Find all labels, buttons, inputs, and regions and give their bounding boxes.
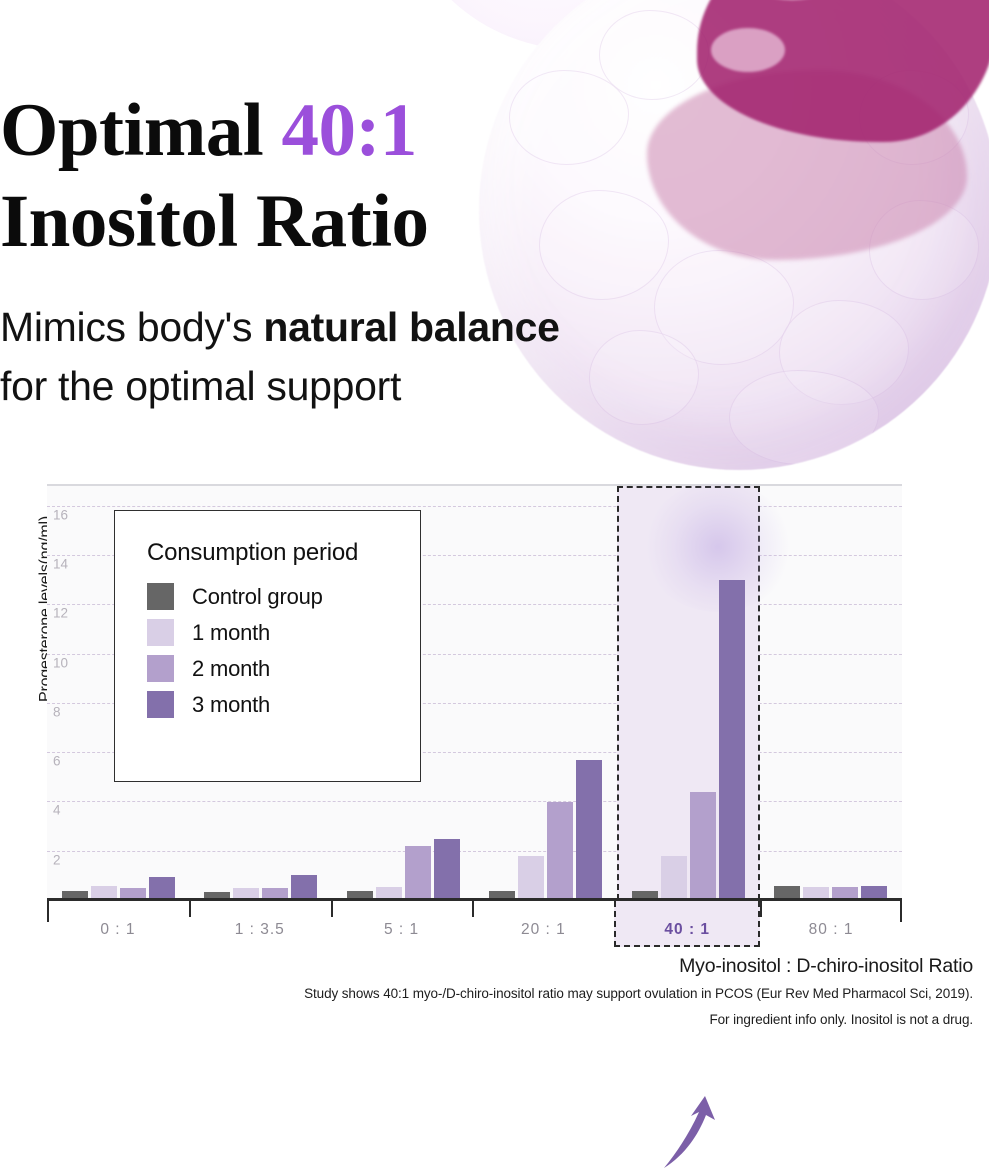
study-note: Study shows 40:1 myo-/D-chiro-inositol r…	[0, 986, 973, 1001]
bar-group	[760, 486, 903, 898]
bar	[376, 887, 402, 898]
legend-item-label: Control group	[192, 584, 323, 610]
progesterone-bar-chart: Progesterone levels(ng/ml) 246810121416 …	[0, 470, 989, 1024]
subhead-line2: for the optimal support	[0, 363, 401, 409]
bar	[347, 891, 373, 898]
bar	[576, 760, 602, 898]
bar	[91, 886, 117, 898]
bar	[547, 802, 573, 898]
legend-item-label: 3 month	[192, 692, 270, 718]
bar	[489, 891, 515, 898]
x-axis-caption: Myo-inositol : D-chiro-inositol Ratio	[0, 955, 973, 978]
page-title: Optimal 40:1 Inositol Ratio	[0, 86, 560, 268]
bar	[661, 856, 687, 898]
bubble-top-shape	[399, 0, 759, 50]
legend-swatch	[147, 691, 174, 718]
x-axis-tick-4: 40 : 1	[614, 901, 760, 947]
growth-arrow-icon	[661, 1094, 719, 1172]
bar-group	[617, 486, 760, 898]
bar	[719, 580, 745, 898]
legend-items: Control group1 month2 month3 month	[147, 583, 420, 718]
headline-line1-prefix: Optimal	[0, 89, 281, 172]
x-axis-tick-0: 0 : 1	[47, 901, 189, 947]
headline-ratio-accent: 40:1	[281, 89, 416, 172]
x-axis-tick-5: 80 : 1	[760, 901, 902, 947]
legend-swatch	[147, 619, 174, 646]
bar	[518, 856, 544, 898]
headline-line2: Inositol Ratio	[0, 180, 428, 263]
bar	[832, 887, 858, 898]
bar	[434, 839, 460, 898]
legend-item-label: 2 month	[192, 656, 270, 682]
legend-title: Consumption period	[147, 539, 420, 567]
legend-swatch	[147, 583, 174, 610]
x-axis-tick-3: 20 : 1	[472, 901, 614, 947]
bar	[149, 877, 175, 898]
bar	[774, 886, 800, 898]
bar	[690, 792, 716, 898]
disclaimer-note: For ingredient info only. Inositol is no…	[0, 1012, 973, 1027]
legend-item: Control group	[147, 583, 420, 610]
bubble-pink-blob	[647, 70, 967, 260]
bar	[291, 875, 317, 898]
hero-copy: Optimal 40:1 Inositol Ratio Mimics body'…	[0, 86, 560, 416]
bar	[233, 888, 259, 898]
subhead-part1: Mimics body's	[0, 304, 263, 350]
x-axis-tick-1: 1 : 3.5	[189, 901, 331, 947]
chart-legend: Consumption period Control group1 month2…	[114, 510, 421, 782]
legend-item: 3 month	[147, 691, 420, 718]
bar	[405, 846, 431, 898]
bar	[62, 891, 88, 898]
bar	[120, 888, 146, 898]
bar	[632, 891, 658, 898]
subhead-emphasis: natural balance	[263, 304, 559, 350]
x-axis-tick-labels: 0 : 11 : 3.55 : 120 : 140 : 180 : 1	[47, 901, 902, 947]
legend-swatch	[147, 655, 174, 682]
page-subtitle: Mimics body's natural balance for the op…	[0, 298, 560, 417]
x-axis-tick-2: 5 : 1	[331, 901, 473, 947]
bubble-magenta-blob	[697, 0, 989, 142]
legend-item: 2 month	[147, 655, 420, 682]
bar	[803, 887, 829, 898]
bar-group	[475, 486, 618, 898]
bar	[861, 886, 887, 898]
bar	[262, 888, 288, 898]
legend-item-label: 1 month	[192, 620, 270, 646]
legend-item: 1 month	[147, 619, 420, 646]
